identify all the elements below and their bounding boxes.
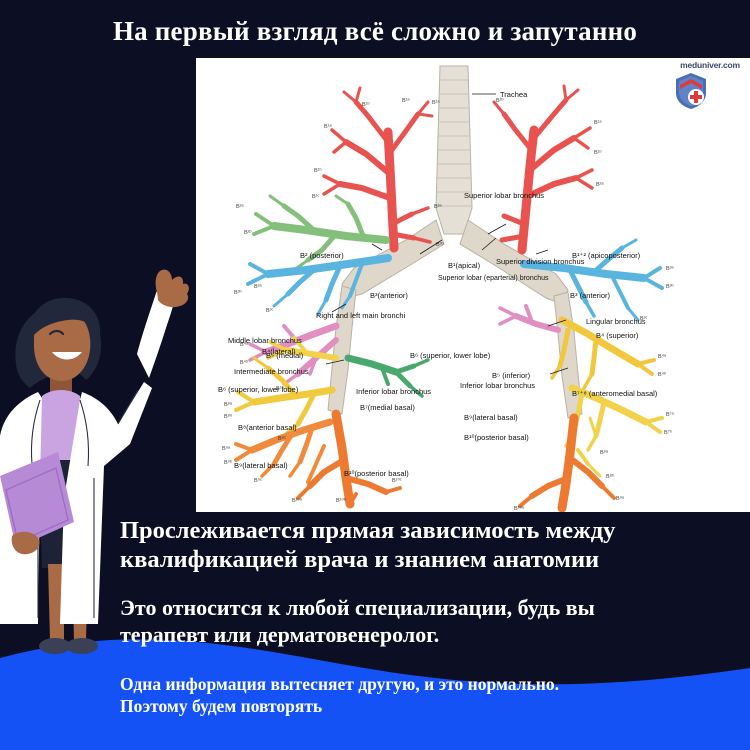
shield-cross-icon (674, 71, 708, 111)
label-b5-medial: B⁵ (medial) (266, 351, 304, 360)
text-block-3: Одна информация вытесняет другую, и это … (120, 673, 746, 717)
svg-text:B²ᵃ: B²ᵃ (596, 182, 605, 188)
label-superior-lobar-eparterial: Superior lobar (eparterial) bronchus (438, 275, 549, 282)
svg-text:B⁹ᵃ: B⁹ᵃ (616, 495, 625, 502)
svg-text:B¹ᶜ: B¹ᶜ (312, 194, 320, 200)
svg-text:B³ᶜ: B³ᶜ (266, 308, 274, 314)
watermark: meduniver.com (674, 60, 746, 122)
svg-text:B⁴ᵃ: B⁴ᵃ (658, 353, 667, 360)
svg-text:B⁹ᵇ: B⁹ᵇ (224, 459, 232, 466)
label-b1-2-apicoposterior: B¹⁺² (apicoposterior) (572, 251, 641, 260)
bronchial-tree-diagram[interactable]: Trachea B¹(apical) Superior lobar (epart… (196, 58, 750, 512)
label-intermediate: Intermediate bronchus (234, 367, 309, 376)
label-b9-lateral-basal-right: B⁹(lateral basal) (234, 461, 288, 470)
svg-text:B²ᵇ: B²ᵇ (244, 229, 252, 236)
doctor-shoe-right (66, 638, 98, 654)
text-block-1-line-1: Прослеживается прямая зависимость между (120, 516, 746, 545)
label-b1-apical: B¹(apical) (448, 261, 481, 270)
svg-text:B⁵ᵃ: B⁵ᵃ (276, 385, 285, 392)
label-b10-posterior-basal-right: B¹⁰(posterior basal) (344, 469, 409, 478)
svg-text:B¹⁰ᶜ: B¹⁰ᶜ (392, 477, 402, 484)
label-b7-medial-basal: B⁷(medial basal) (360, 403, 415, 412)
label-b3-anterior-right: B³(anterior) (370, 291, 408, 300)
svg-text:B⁴ᵇ: B⁴ᵇ (240, 359, 248, 366)
label-inferior-lobar-right: Inferior lobar bronchus (356, 387, 431, 396)
infographic-canvas: На первый взгляд всё сложно и запутанно (0, 0, 750, 750)
text-block-3-line-2: Поэтому будем повторять (120, 695, 746, 717)
text-block-1: Прослеживается прямая зависимость между … (120, 516, 746, 574)
svg-text:B¹ᵃ: B¹ᵃ (324, 124, 333, 130)
svg-text:B⁷ᵇ: B⁷ᵇ (664, 429, 672, 436)
label-b10-posterior-basal-left: B¹⁰(posterior basal) (464, 433, 529, 442)
label-b3-anterior-left: B³ (anterior) (570, 291, 611, 300)
svg-text:B¹ᵇ: B¹ᵇ (314, 167, 322, 174)
label-b4-superior: B⁴ (superior) (596, 331, 639, 340)
svg-text:B⁸ᵇ: B⁸ᵇ (606, 473, 614, 480)
label-b2-posterior: B² (posterior) (300, 251, 344, 260)
text-block-2: Это относится к любой специализации, буд… (120, 594, 746, 648)
svg-text:B⁸ᵃ: B⁸ᵃ (600, 449, 609, 456)
label-lingular: Lingular bronchus (586, 317, 646, 326)
text-block-2-line-2: терапевт или дерматовенеролог. (120, 621, 746, 648)
label-main-bronchi: Right and left main bronchi (316, 311, 406, 320)
svg-text:B³ᵃ: B³ᵃ (666, 266, 675, 272)
label-b6-superior-lower-right: B⁶ (superior, lower lobe) (410, 351, 491, 360)
svg-text:B¹⁰ᵃ: B¹⁰ᵃ (292, 497, 303, 504)
svg-text:B¹ᵇ: B¹ᵇ (594, 149, 602, 156)
svg-text:B³ᵃ: B³ᵃ (434, 204, 443, 210)
text-block-2-line-1: Это относится к любой специализации, буд… (120, 594, 746, 621)
label-b7-8-anteromedial: B⁷⁺⁸ (anteromedial basal) (572, 389, 658, 398)
svg-text:B¹ᵃ: B¹ᵃ (594, 120, 603, 126)
label-b5-inferior: B⁵ (inferior) (492, 371, 531, 380)
watermark-text: meduniver.com (674, 60, 746, 70)
svg-text:B¹ᵇ: B¹ᵇ (362, 101, 370, 108)
svg-text:B¹ᵃ: B¹ᵃ (432, 100, 441, 106)
svg-text:B³ᵇ: B³ᵇ (666, 283, 674, 290)
svg-text:B²ᵃ: B²ᵃ (236, 204, 245, 210)
svg-text:B⁸ᶜ: B⁸ᶜ (278, 435, 286, 442)
svg-text:B⁹ᶜ: B⁹ᶜ (254, 477, 262, 484)
svg-text:B⁴ᵃ: B⁴ᵃ (240, 341, 249, 348)
label-b9-lateral-basal-left: B⁹(lateral basal) (464, 413, 518, 422)
text-block-3-line-1: Одна информация вытесняет другую, и это … (120, 673, 746, 695)
svg-text:B³ᵇ: B³ᵇ (234, 289, 242, 296)
label-inferior-lobar-left: Inferior lobar bronchus (460, 381, 535, 390)
svg-text:B⁸ᵃ: B⁸ᵃ (224, 401, 233, 408)
page-title: На первый взгляд всё сложно и запутанно (0, 16, 750, 47)
svg-text:B²ᵇ: B²ᵇ (496, 97, 504, 104)
svg-text:B⁴ᵇ: B⁴ᵇ (658, 371, 666, 378)
svg-text:B¹ᵃ: B¹ᵃ (402, 98, 411, 104)
svg-text:B³ᶜ: B³ᶜ (640, 316, 648, 322)
label-trachea: Trachea (500, 90, 528, 99)
svg-text:B¹⁰ᵇ: B¹⁰ᵇ (336, 497, 346, 504)
svg-text:B³ᵇ: B³ᵇ (436, 241, 444, 248)
svg-text:B⁸ᵇ: B⁸ᵇ (224, 413, 232, 420)
svg-text:B⁷ᵃ: B⁷ᵃ (666, 411, 675, 418)
text-block-1-line-2: квалификацией врача и знанием анатомии (120, 545, 746, 574)
doctor-hand (156, 270, 189, 308)
svg-text:B⁹ᵃ: B⁹ᵃ (222, 445, 231, 452)
svg-text:B¹⁰ᵃ: B¹⁰ᵃ (514, 505, 525, 512)
label-b8-anterior-basal: B⁸(anterior basal) (238, 423, 297, 432)
bronchial-tree-svg: Trachea B¹(apical) Superior lobar (epart… (196, 58, 750, 512)
label-superior-lobar: Superior lobar bronchus (464, 191, 544, 200)
svg-text:B³ᵃ: B³ᵃ (254, 284, 263, 290)
label-b6-right: B⁶ (superior, lower lobe) (218, 385, 299, 394)
